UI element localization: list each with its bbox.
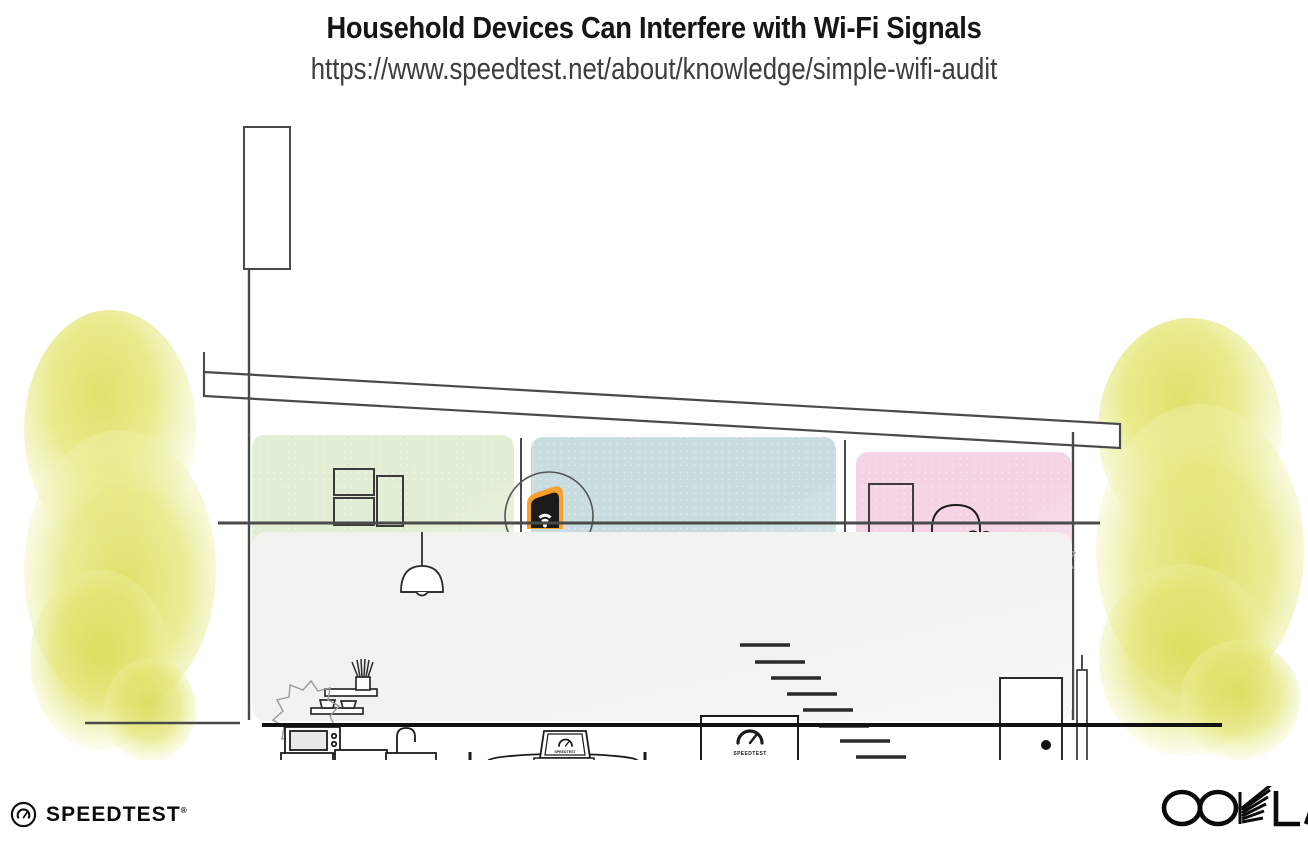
page-title: Household Devices Can Interfere with Wi-… bbox=[78, 8, 1229, 48]
microwave bbox=[285, 727, 340, 754]
foliage-left bbox=[24, 310, 216, 760]
laptop: SPEEDTEST bbox=[534, 731, 594, 760]
sidelight-window bbox=[1077, 655, 1087, 760]
door-knob bbox=[1041, 740, 1051, 750]
ookla-wordmark bbox=[1160, 786, 1308, 830]
laptop-label: SPEEDTEST bbox=[554, 750, 576, 754]
chimney bbox=[244, 127, 290, 269]
speedtest-wordmark: SPEEDTEST® bbox=[46, 803, 187, 827]
living-room-tv: SPEEDTEST bbox=[701, 716, 798, 760]
speedtest-trademark: ® bbox=[181, 806, 187, 815]
roof bbox=[204, 352, 1120, 448]
ookla-k-rays bbox=[1240, 786, 1272, 824]
foliage-right bbox=[1096, 318, 1304, 760]
speedtest-gauge-icon bbox=[10, 801, 37, 828]
source-url: https://www.speedtest.net/about/knowledg… bbox=[111, 48, 1197, 90]
house-illustration: SPEEDTEST bbox=[0, 100, 1308, 760]
page-root: Household Devices Can Interfere with Wi-… bbox=[0, 0, 1308, 861]
dining-set: SPEEDTEST bbox=[470, 731, 645, 760]
header: Household Devices Can Interfere with Wi-… bbox=[0, 0, 1308, 90]
speedtest-wordmark-text: SPEEDTEST bbox=[46, 803, 181, 826]
ookla-logo bbox=[1160, 786, 1308, 830]
speedtest-logo: SPEEDTEST® bbox=[10, 801, 187, 828]
living-tv-label: SPEEDTEST bbox=[733, 751, 766, 757]
entry-door bbox=[1000, 678, 1062, 760]
